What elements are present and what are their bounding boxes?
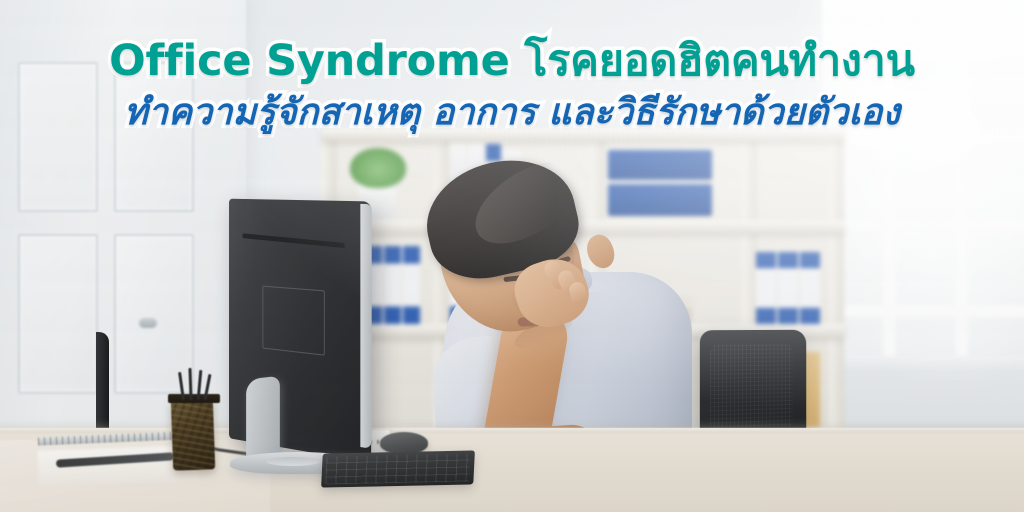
monitor-bezel-edge — [360, 204, 371, 449]
pen-holder-texture — [171, 397, 215, 470]
grid-window — [822, 0, 1024, 360]
door-panel — [114, 62, 194, 212]
ear — [582, 231, 619, 272]
monitor-vesa-plate — [262, 286, 324, 356]
shelf-board — [322, 128, 844, 141]
binder — [756, 252, 776, 324]
door-knob — [139, 318, 157, 328]
window-mullion — [822, 134, 1024, 144]
door-panel — [114, 234, 194, 394]
bronze-pen-holder — [171, 397, 215, 470]
computer-keyboard — [321, 450, 475, 487]
monitor-stand-cutout — [266, 457, 320, 466]
desktop-monitor — [222, 200, 384, 468]
pen-holder-rim — [168, 394, 220, 403]
window-mullion — [822, 220, 1024, 230]
office-syndrome-banner: Office Syndrome โรคยอดฮิตคนทำงาน ทำความร… — [0, 0, 1024, 512]
keyboard-keys — [325, 453, 471, 484]
binder — [778, 252, 798, 324]
binder — [800, 252, 820, 324]
door-panel — [18, 234, 98, 394]
door-panel — [18, 62, 98, 212]
window-mullion — [822, 48, 1024, 58]
office-scene-photo — [0, 0, 1024, 512]
window-mullion — [822, 306, 1024, 316]
